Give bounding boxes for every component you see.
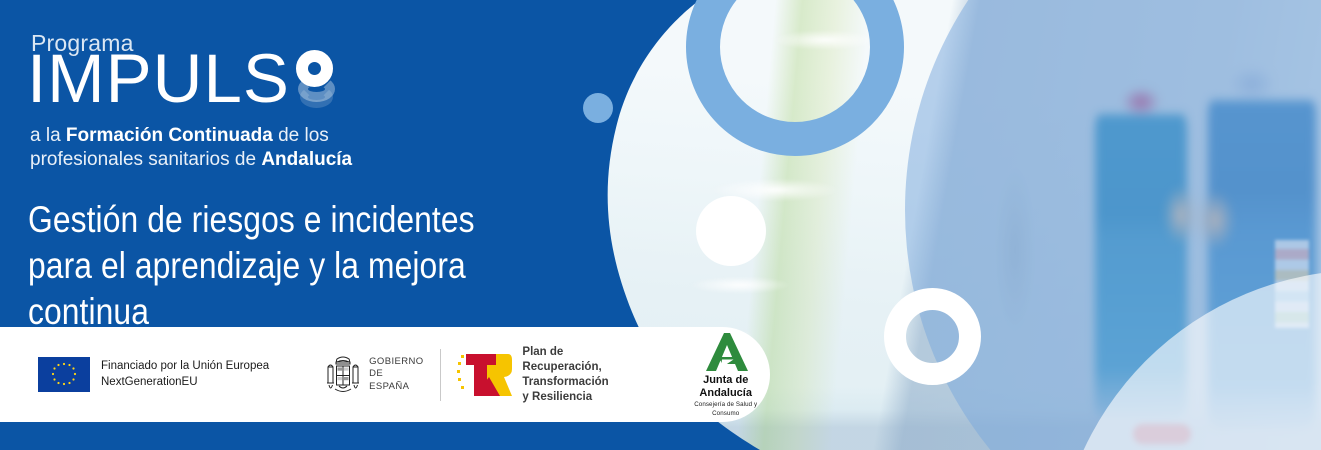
impulso-o-ring-icon: [290, 46, 352, 108]
eu-flag-icon: [38, 357, 90, 392]
eu-label: Financiado por la Unión Europea NextGene…: [101, 359, 269, 390]
prtr-label-line3: y Resiliencia: [522, 390, 623, 405]
junta-andalucia-a-icon: [703, 332, 749, 372]
junta-label-line2: Consejería de Salud y Consumo: [681, 400, 770, 418]
logo-divider: [440, 349, 441, 401]
tagline-line1: a la Formación Continuada de los: [30, 125, 329, 146]
tagline-line2: profesionales sanitarios de Andalucía: [30, 149, 352, 170]
eu-label-line2: NextGenerationEU: [101, 375, 269, 391]
program-logotype-text: IMPULS: [27, 40, 290, 117]
prtr-label-line2: Transformación: [522, 375, 623, 390]
eu-label-line1: Financiado por la Unión Europea: [101, 359, 269, 375]
decorative-ring-white-icon: [884, 288, 981, 385]
tagline-l2-bold: Andalucía: [261, 149, 352, 170]
tagline-l1-b: de los: [273, 125, 329, 146]
logo-junta-de-andalucia: Junta de Andalucía Consejería de Salud y…: [681, 332, 770, 418]
gobierno-label-line1: GOBIERNO: [369, 356, 423, 369]
tagline-l2-a: profesionales sanitarios de: [30, 149, 261, 170]
eu-stars-icon: [38, 357, 90, 392]
spanish-coat-of-arms-icon: [325, 353, 361, 397]
junta-label-line1: Junta de Andalucía: [681, 374, 770, 400]
gobierno-label: GOBIERNO DE ESPAÑA: [369, 356, 423, 394]
course-title: Gestión de riesgos e incidentes para el …: [28, 197, 510, 335]
decorative-dot-white-icon: [696, 196, 766, 266]
decorative-dot-blue-icon: [583, 93, 613, 123]
program-logotype: IMPULS: [27, 44, 352, 113]
tagline-l1-bold: Formación Continuada: [66, 125, 273, 146]
tagline-l1-a: a la: [30, 125, 66, 146]
prtr-label: Plan de Recuperación, Transformación y R…: [522, 345, 623, 405]
gobierno-label-line2: DE ESPAÑA: [369, 368, 423, 393]
logo-european-union: Financiado por la Unión Europea NextGene…: [38, 357, 269, 392]
logo-gobierno-de-espana: GOBIERNO DE ESPAÑA: [325, 353, 423, 397]
prtr-emblem-icon: [456, 352, 512, 398]
prtr-label-line1: Plan de Recuperación,: [522, 345, 623, 375]
funding-logos-bar: Financiado por la Unión Europea NextGene…: [0, 327, 770, 422]
impulso-course-banner: Programa IMPULS a la Formación Continuad…: [0, 0, 1321, 450]
logo-plan-recuperacion: Plan de Recuperación, Transformación y R…: [456, 345, 623, 405]
program-tagline: a la Formación Continuada de los profesi…: [30, 124, 352, 172]
